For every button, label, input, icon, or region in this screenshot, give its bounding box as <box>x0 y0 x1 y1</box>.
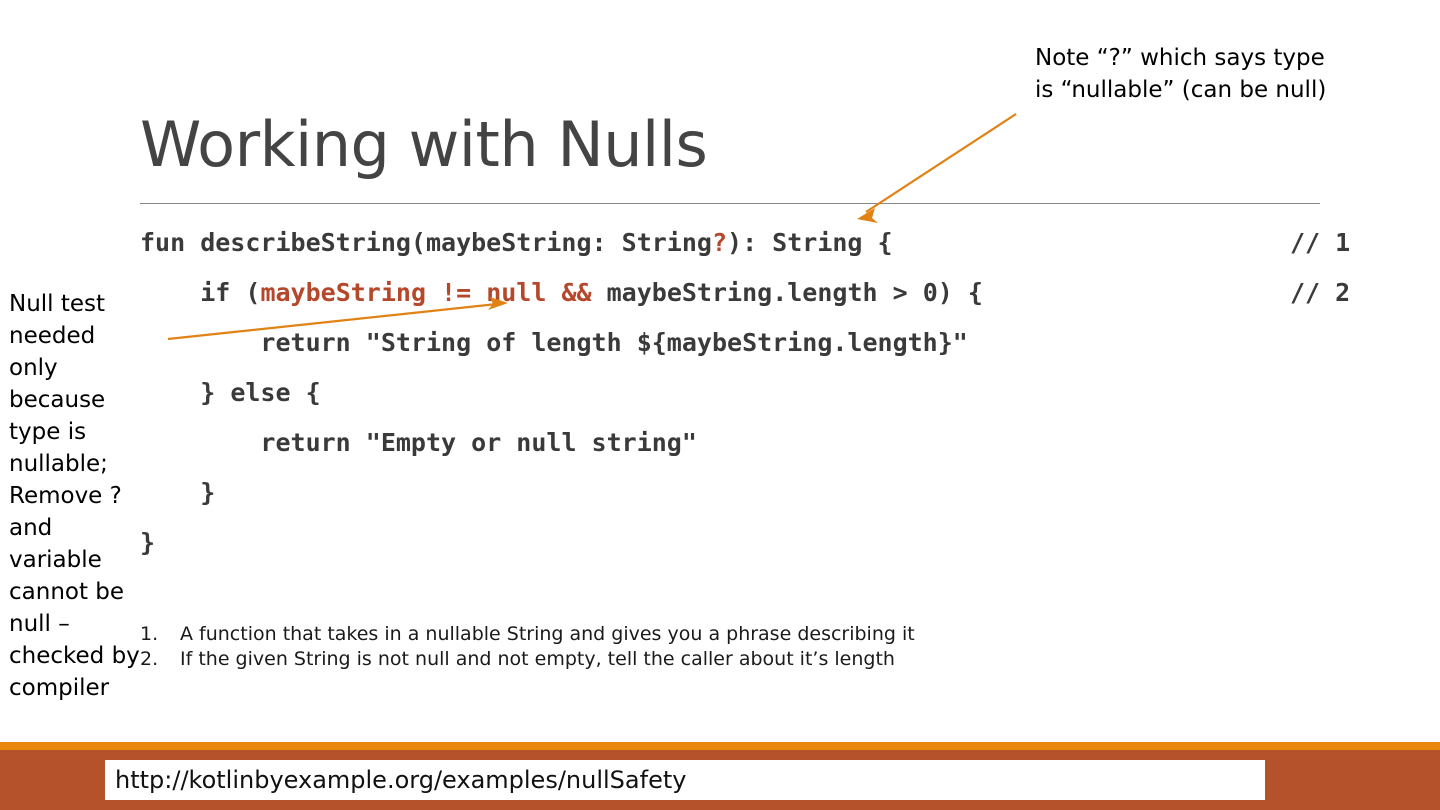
code-token: return "Empty or null string" <box>260 428 697 457</box>
list-item-number: 1. <box>140 623 180 645</box>
code-line: } else { <box>140 376 1400 426</box>
code-line: if (maybeString != null && maybeString.l… <box>140 276 1400 326</box>
annotation-nullable-note: Note “?” which says type is “nullable” (… <box>1035 42 1335 106</box>
page-title: Working with Nulls <box>140 112 707 177</box>
code-block: fun describeString(maybeString: String?)… <box>140 226 1400 576</box>
code-token: } <box>140 528 155 557</box>
code-token: } <box>200 478 215 507</box>
code-line-comment: // 1 <box>1290 226 1350 260</box>
code-line: } <box>140 526 1400 576</box>
list-item: 2.If the given String is not null and no… <box>140 648 1040 673</box>
list-item: 1.A function that takes in a nullable St… <box>140 623 1040 648</box>
code-line-text: fun describeString(maybeString: String?)… <box>140 226 893 260</box>
code-line: } <box>140 476 1400 526</box>
explanation-list: 1.A function that takes in a nullable St… <box>140 623 1040 673</box>
code-line: fun describeString(maybeString: String?)… <box>140 226 1400 276</box>
code-token: } else { <box>200 378 320 407</box>
footer-accent-stripe <box>0 742 1440 750</box>
code-token-nullable: maybeString != null && <box>260 278 591 307</box>
code-token: ): String { <box>727 228 893 257</box>
code-token-nullable: ? <box>712 228 727 257</box>
code-line-text: return "Empty or null string" <box>140 426 697 460</box>
list-item-number: 2. <box>140 648 180 670</box>
code-token: if ( <box>200 278 260 307</box>
code-line: return "String of length ${maybeString.l… <box>140 326 1400 376</box>
code-line-text: if (maybeString != null && maybeString.l… <box>140 276 983 310</box>
code-token: fun describeString(maybeString: String <box>140 228 712 257</box>
footer-bar: http://kotlinbyexample.org/examples/null… <box>0 742 1440 810</box>
code-line-text: } else { <box>140 376 321 410</box>
code-line: return "Empty or null string" <box>140 426 1400 476</box>
list-item-text: If the given String is not null and not … <box>180 648 1040 670</box>
title-divider <box>140 203 1320 204</box>
list-item-text: A function that takes in a nullable Stri… <box>180 623 1040 645</box>
code-line-comment: // 2 <box>1290 276 1350 310</box>
code-line-text: } <box>140 476 215 510</box>
code-line-text: return "String of length ${maybeString.l… <box>140 326 968 360</box>
code-token: return "String of length ${maybeString.l… <box>260 328 967 357</box>
arrow-to-nullable-question-mark <box>857 114 1016 223</box>
annotation-null-test-note: Null test needed only because type is nu… <box>9 288 141 704</box>
code-line-text: } <box>140 526 155 560</box>
url-box[interactable]: http://kotlinbyexample.org/examples/null… <box>105 760 1265 800</box>
url-text[interactable]: http://kotlinbyexample.org/examples/null… <box>105 766 686 794</box>
code-token: maybeString.length > 0) { <box>592 278 983 307</box>
